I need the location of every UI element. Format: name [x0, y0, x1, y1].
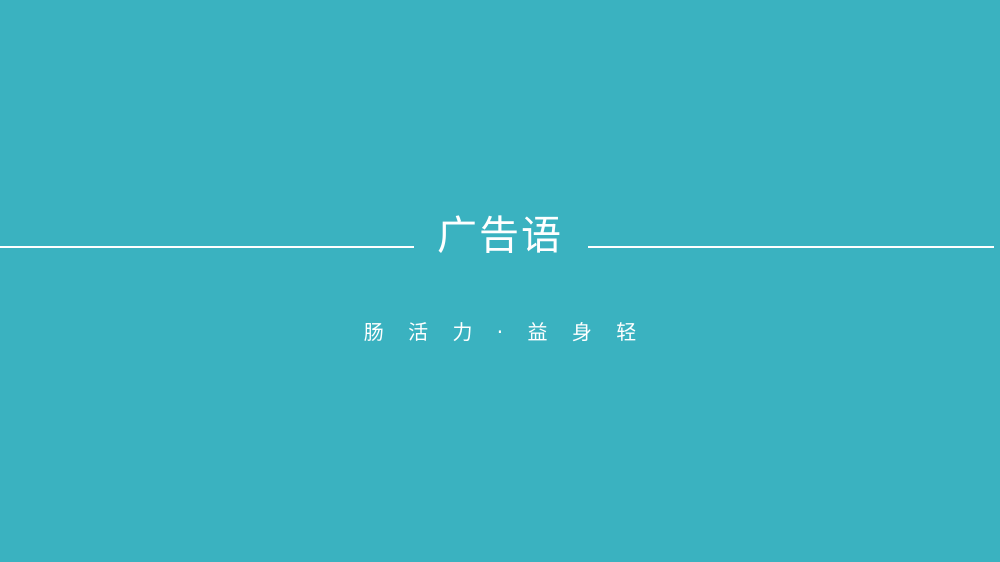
subtitle-block: 肠 活 力 · 益 身 轻 [0, 322, 1000, 342]
slogan-text: 肠 活 力 · 益 身 轻 [355, 322, 646, 342]
slide-canvas: 广告语 肠 活 力 · 益 身 轻 [0, 0, 1000, 562]
title-block: 广告语 [0, 216, 1000, 256]
slide-background [0, 0, 1000, 562]
page-title: 广告语 [411, 216, 589, 256]
